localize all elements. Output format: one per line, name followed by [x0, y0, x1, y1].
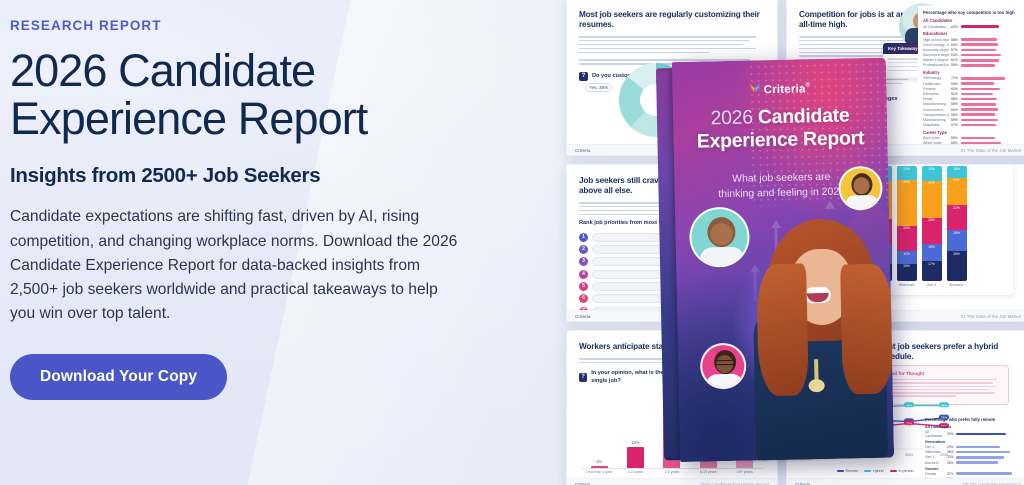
- panel-row: All Candidates33%: [925, 430, 1021, 438]
- footer-logo: Criteria: [795, 482, 810, 485]
- competition-bar-chart: Percentage who say competition is too hi…: [918, 6, 1022, 141]
- smiling-woman-photo: [838, 166, 883, 211]
- panel-row: Gen Z29%: [925, 445, 1021, 449]
- bar-row: Hospitality57%: [923, 123, 1017, 127]
- footer-note: 03 The Candidate Experience: [963, 482, 1021, 485]
- stacked-bar-column: 12%40%22%11%15%Millennials: [897, 166, 917, 287]
- bar-row: Manufacturing56%: [923, 102, 1017, 106]
- bar-row: Healthcare54%: [923, 82, 1017, 86]
- bar-group-label: Industry: [923, 70, 1017, 75]
- bar-group-label: All Candidates: [923, 18, 1017, 23]
- bar-row: Education52%: [923, 92, 1017, 96]
- remote-preference-panel: Percentage who prefer fully remote All C…: [925, 417, 1021, 482]
- bar-row: Master's degree61%: [923, 58, 1017, 62]
- footer-note: 01 The State of the Job Market: [961, 148, 1021, 153]
- panel-group-label: Generation: [925, 440, 1021, 444]
- subheadline: Insights from 2500+ Job Seekers: [10, 164, 480, 188]
- cover-title-rest: Candidate: [758, 104, 850, 128]
- stacked-bar-column: 10%24%22%18%26%Boomers: [947, 166, 967, 287]
- food-for-thought-label: Food for Thought: [886, 371, 1002, 376]
- bar-row: Retail58%: [923, 97, 1017, 101]
- bar-row: High school diploma or less58%: [923, 38, 1017, 42]
- panel-group-label: All Candidates: [925, 425, 1021, 429]
- hero-copy: RESEARCH REPORT 2026 Candidate Experienc…: [10, 18, 480, 400]
- cover-title-year: 2026: [710, 106, 753, 129]
- book-front-cover: Criteria® 2026 Candidate Experience Repo…: [672, 58, 894, 462]
- bar-row: Transportation & logistics55%: [923, 113, 1017, 117]
- bar-group-label: Educational: [923, 31, 1017, 36]
- cover-title-line2: Experience Report: [697, 127, 865, 152]
- footer-logo: Criteria: [575, 148, 590, 153]
- smiling-man-glasses-photo: [700, 343, 747, 390]
- x-mark-icon: [749, 81, 762, 97]
- bar-row: Blue collar55%: [923, 136, 1017, 140]
- bar-row: Professional/Doctoral degree55%: [923, 63, 1017, 67]
- panel-title: Percentage who prefer fully remote: [925, 417, 1021, 422]
- footer-logo: Criteria: [575, 314, 590, 319]
- thumbnail-title: Most job seekers prefer a hybrid schedul…: [877, 342, 1017, 362]
- svg-text:46%: 46%: [906, 403, 912, 407]
- download-your-copy-button[interactable]: Download Your Copy: [10, 354, 227, 400]
- cover-subtitle-line1: What job seekers are: [732, 172, 830, 185]
- footer-note: 01 The State of the Job Market: [961, 314, 1021, 319]
- bar-row: Associate degree57%: [923, 48, 1017, 52]
- panel-row: Millennials36%: [925, 450, 1021, 454]
- data-point: 27%: [904, 420, 914, 425]
- bar: 1%Less than 1 year: [591, 466, 608, 468]
- bar-row: Some college, no degree60%: [923, 43, 1017, 47]
- eyebrow-label: RESEARCH REPORT: [10, 18, 480, 33]
- headline-line-1: 2026 Candidate: [10, 45, 315, 96]
- panel-row: Female37%: [925, 472, 1021, 476]
- footer-note: 2026 Candidate Experience Report: [700, 482, 769, 485]
- thumbnail-title: Most job seekers are regularly customizi…: [579, 10, 765, 30]
- body-copy-lines: [579, 36, 765, 53]
- chart-title: Percentage who say competition is too hi…: [923, 10, 1017, 15]
- data-point: 46%: [904, 402, 914, 407]
- bar-row: Bachelor's degree64%: [923, 53, 1017, 57]
- svg-text:2024: 2024: [905, 453, 913, 457]
- brand-name: Criteria: [764, 83, 806, 96]
- stacked-bar-column: 13%32%23%15%17%Gen X: [922, 166, 942, 287]
- bar: 12%1-2 years: [627, 447, 644, 468]
- svg-text:27%: 27%: [906, 421, 912, 425]
- report-preview-showcase: Most job seekers are regularly customizi…: [560, 0, 1024, 485]
- bar-group-label: Career Type: [923, 130, 1017, 135]
- cover-subtitle-line2: thinking and feeling in 2025: [718, 186, 845, 200]
- cover-title: 2026 Candidate Experience Report: [681, 104, 880, 153]
- bar-row: Government60%: [923, 108, 1017, 112]
- thumbnail-footer: Criteria 2026 Candidate Experience Repor…: [567, 478, 777, 485]
- panel-row: Gen X32%: [925, 455, 1021, 459]
- panel-group-label: Gender: [925, 467, 1021, 471]
- question-mark-icon: ?: [579, 72, 588, 81]
- headline-line-2: Experience Report: [10, 93, 367, 144]
- bar-row: Technology71%: [923, 76, 1017, 80]
- legend-item: In person: [890, 469, 914, 473]
- svg-text:46%: 46%: [941, 403, 947, 407]
- report-cover-book[interactable]: Criteria® 2026 Candidate Experience Repo…: [656, 58, 894, 463]
- panel-row: Boomers28%: [925, 461, 1021, 465]
- question-mark-icon: ?: [579, 373, 587, 382]
- bar-row: All Candidates62%: [923, 25, 1017, 29]
- hero-section: RESEARCH REPORT 2026 Candidate Experienc…: [0, 0, 1024, 485]
- hero-body-text: Candidate expectations are shifting fast…: [10, 205, 458, 326]
- thumbnail-footer: Criteria 03 The Candidate Experience: [787, 478, 1024, 485]
- bar-row: Finance63%: [923, 87, 1017, 91]
- donut-label-1: Yes, 38%: [585, 83, 612, 92]
- bar-row: Manufacturing59%: [923, 118, 1017, 122]
- smiling-man-photo: [689, 207, 750, 268]
- data-point: 46%: [939, 402, 949, 407]
- page-title: 2026 Candidate Experience Report: [10, 47, 480, 142]
- footer-logo: Criteria: [575, 482, 590, 485]
